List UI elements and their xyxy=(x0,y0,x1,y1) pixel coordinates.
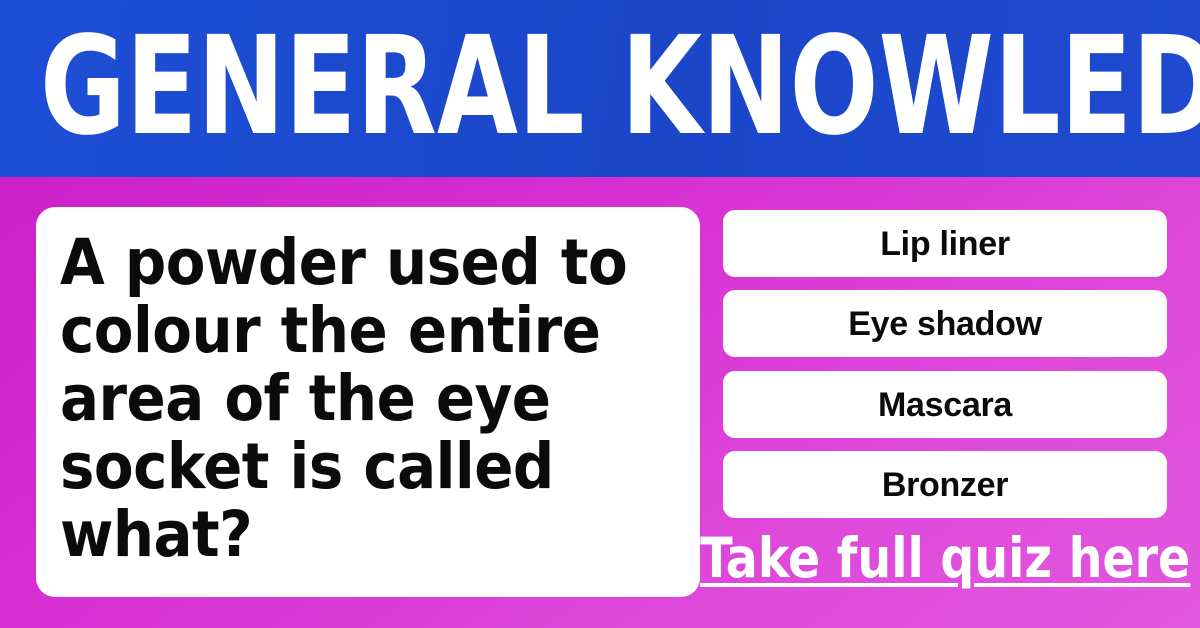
take-full-quiz-link[interactable]: Take full quiz here xyxy=(723,527,1167,589)
answer-option-label: Eye shadow xyxy=(848,306,1042,342)
answer-option-bronzer[interactable]: Bronzer xyxy=(723,451,1167,518)
question-card: A powder used to colour the entire area … xyxy=(36,207,700,597)
answer-option-label: Mascara xyxy=(878,387,1012,423)
answer-options-list: Lip liner Eye shadow Mascara Bronzer xyxy=(723,210,1167,520)
answer-option-label: Bronzer xyxy=(882,467,1008,503)
page-title: GENERAL KNOWLEDGE QUIZ xyxy=(40,12,1001,162)
take-full-quiz-label: Take full quiz here xyxy=(700,529,1190,587)
quiz-promo-card: GENERAL KNOWLEDGE QUIZ A powder used to … xyxy=(0,0,1200,628)
answer-option-label: Lip liner xyxy=(880,226,1010,262)
header-banner: GENERAL KNOWLEDGE QUIZ xyxy=(0,0,1200,177)
question-text: A powder used to colour the entire area … xyxy=(60,229,690,569)
answer-option-lip-liner[interactable]: Lip liner xyxy=(723,210,1167,277)
answer-option-eye-shadow[interactable]: Eye shadow xyxy=(723,290,1167,357)
answer-option-mascara[interactable]: Mascara xyxy=(723,371,1167,438)
